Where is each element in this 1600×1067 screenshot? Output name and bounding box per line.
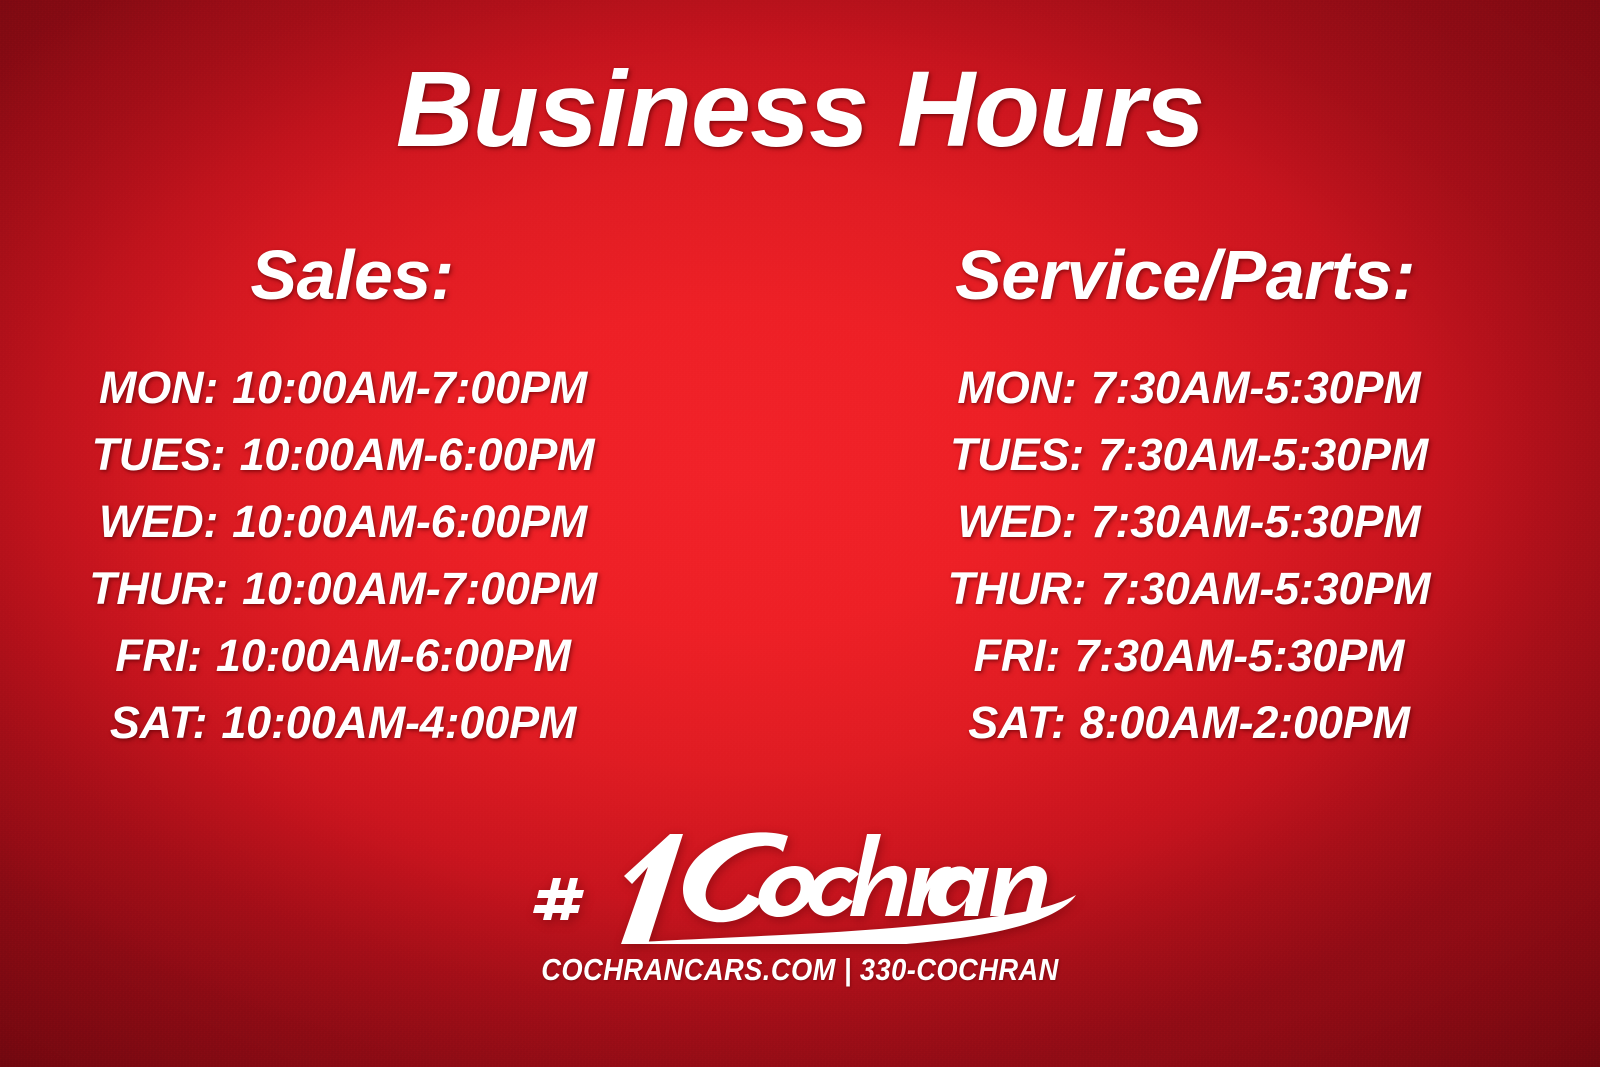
hours-row: TUES: 7:30AM-5:30PM xyxy=(800,421,1600,488)
hours-row: MON: 7:30AM-5:30PM xyxy=(800,354,1600,421)
hash-mark-glyph xyxy=(533,878,584,920)
hours-row: THUR: 7:30AM-5:30PM xyxy=(800,555,1600,622)
hours-row: WED: 10:00AM-6:00PM xyxy=(0,488,800,555)
hours-row: TUES: 10:00AM-6:00PM xyxy=(0,421,800,488)
hours-value: 7:30AM-5:30PM xyxy=(1100,566,1430,611)
day-label: FRI: xyxy=(115,633,202,678)
day-label: SAT: xyxy=(968,700,1066,745)
hours-row: WED: 7:30AM-5:30PM xyxy=(800,488,1600,555)
day-label: THUR: xyxy=(89,566,228,611)
day-label: WED: xyxy=(957,499,1076,544)
hours-value: 8:00AM-2:00PM xyxy=(1080,700,1410,745)
column-heading-sales: Sales: xyxy=(0,240,800,310)
hours-column-service-parts: Service/Parts: MON: 7:30AM-5:30PM TUES: … xyxy=(800,240,1600,756)
hours-value: 10:00AM-6:00PM xyxy=(232,499,587,544)
day-label: TUES: xyxy=(950,432,1084,477)
hours-value: 7:30AM-5:30PM xyxy=(1091,499,1421,544)
poster-content: Business Hours Sales: MON: 10:00AM-7:00P… xyxy=(0,0,1600,1067)
hours-value: 7:30AM-5:30PM xyxy=(1098,432,1428,477)
hours-value: 10:00AM-6:00PM xyxy=(240,432,595,477)
page-title: Business Hours xyxy=(0,52,1600,165)
business-hours-poster: Business Hours Sales: MON: 10:00AM-7:00P… xyxy=(0,0,1600,1067)
footer-contact-info: COCHRANCARS.COM | 330-COCHRAN xyxy=(96,952,1504,988)
day-label: WED: xyxy=(99,499,218,544)
day-label: TUES: xyxy=(92,432,226,477)
day-label: FRI: xyxy=(974,633,1061,678)
hours-value: 7:30AM-5:30PM xyxy=(1091,365,1421,410)
numeral-one-glyph xyxy=(621,834,683,944)
hours-list-service-parts: MON: 7:30AM-5:30PM TUES: 7:30AM-5:30PM W… xyxy=(800,354,1600,756)
day-label: THUR: xyxy=(948,566,1087,611)
hours-value: 10:00AM-6:00PM xyxy=(216,633,571,678)
day-label: MON: xyxy=(99,365,218,410)
hours-value: 10:00AM-7:00PM xyxy=(242,566,597,611)
hours-columns: Sales: MON: 10:00AM-7:00PM TUES: 10:00AM… xyxy=(0,240,1600,756)
hours-list-sales: MON: 10:00AM-7:00PM TUES: 10:00AM-6:00PM… xyxy=(0,354,800,756)
day-label: MON: xyxy=(957,365,1076,410)
hours-row: FRI: 10:00AM-6:00PM xyxy=(0,622,800,689)
brand-logo xyxy=(0,812,1600,949)
hours-row: FRI: 7:30AM-5:30PM xyxy=(800,622,1600,689)
number-one-cochran-logo-icon xyxy=(520,812,1080,944)
hours-row: MON: 10:00AM-7:00PM xyxy=(0,354,800,421)
hours-column-sales: Sales: MON: 10:00AM-7:00PM TUES: 10:00AM… xyxy=(0,240,800,756)
hours-row: THUR: 10:00AM-7:00PM xyxy=(0,555,800,622)
cochran-wordmark xyxy=(683,832,1047,922)
hours-row: SAT: 10:00AM-4:00PM xyxy=(0,689,800,756)
column-heading-service-parts: Service/Parts: xyxy=(800,240,1600,310)
day-label: SAT: xyxy=(110,700,208,745)
hours-value: 10:00AM-4:00PM xyxy=(221,700,576,745)
hours-value: 7:30AM-5:30PM xyxy=(1074,633,1404,678)
hours-row: SAT: 8:00AM-2:00PM xyxy=(800,689,1600,756)
hours-value: 10:00AM-7:00PM xyxy=(232,365,587,410)
